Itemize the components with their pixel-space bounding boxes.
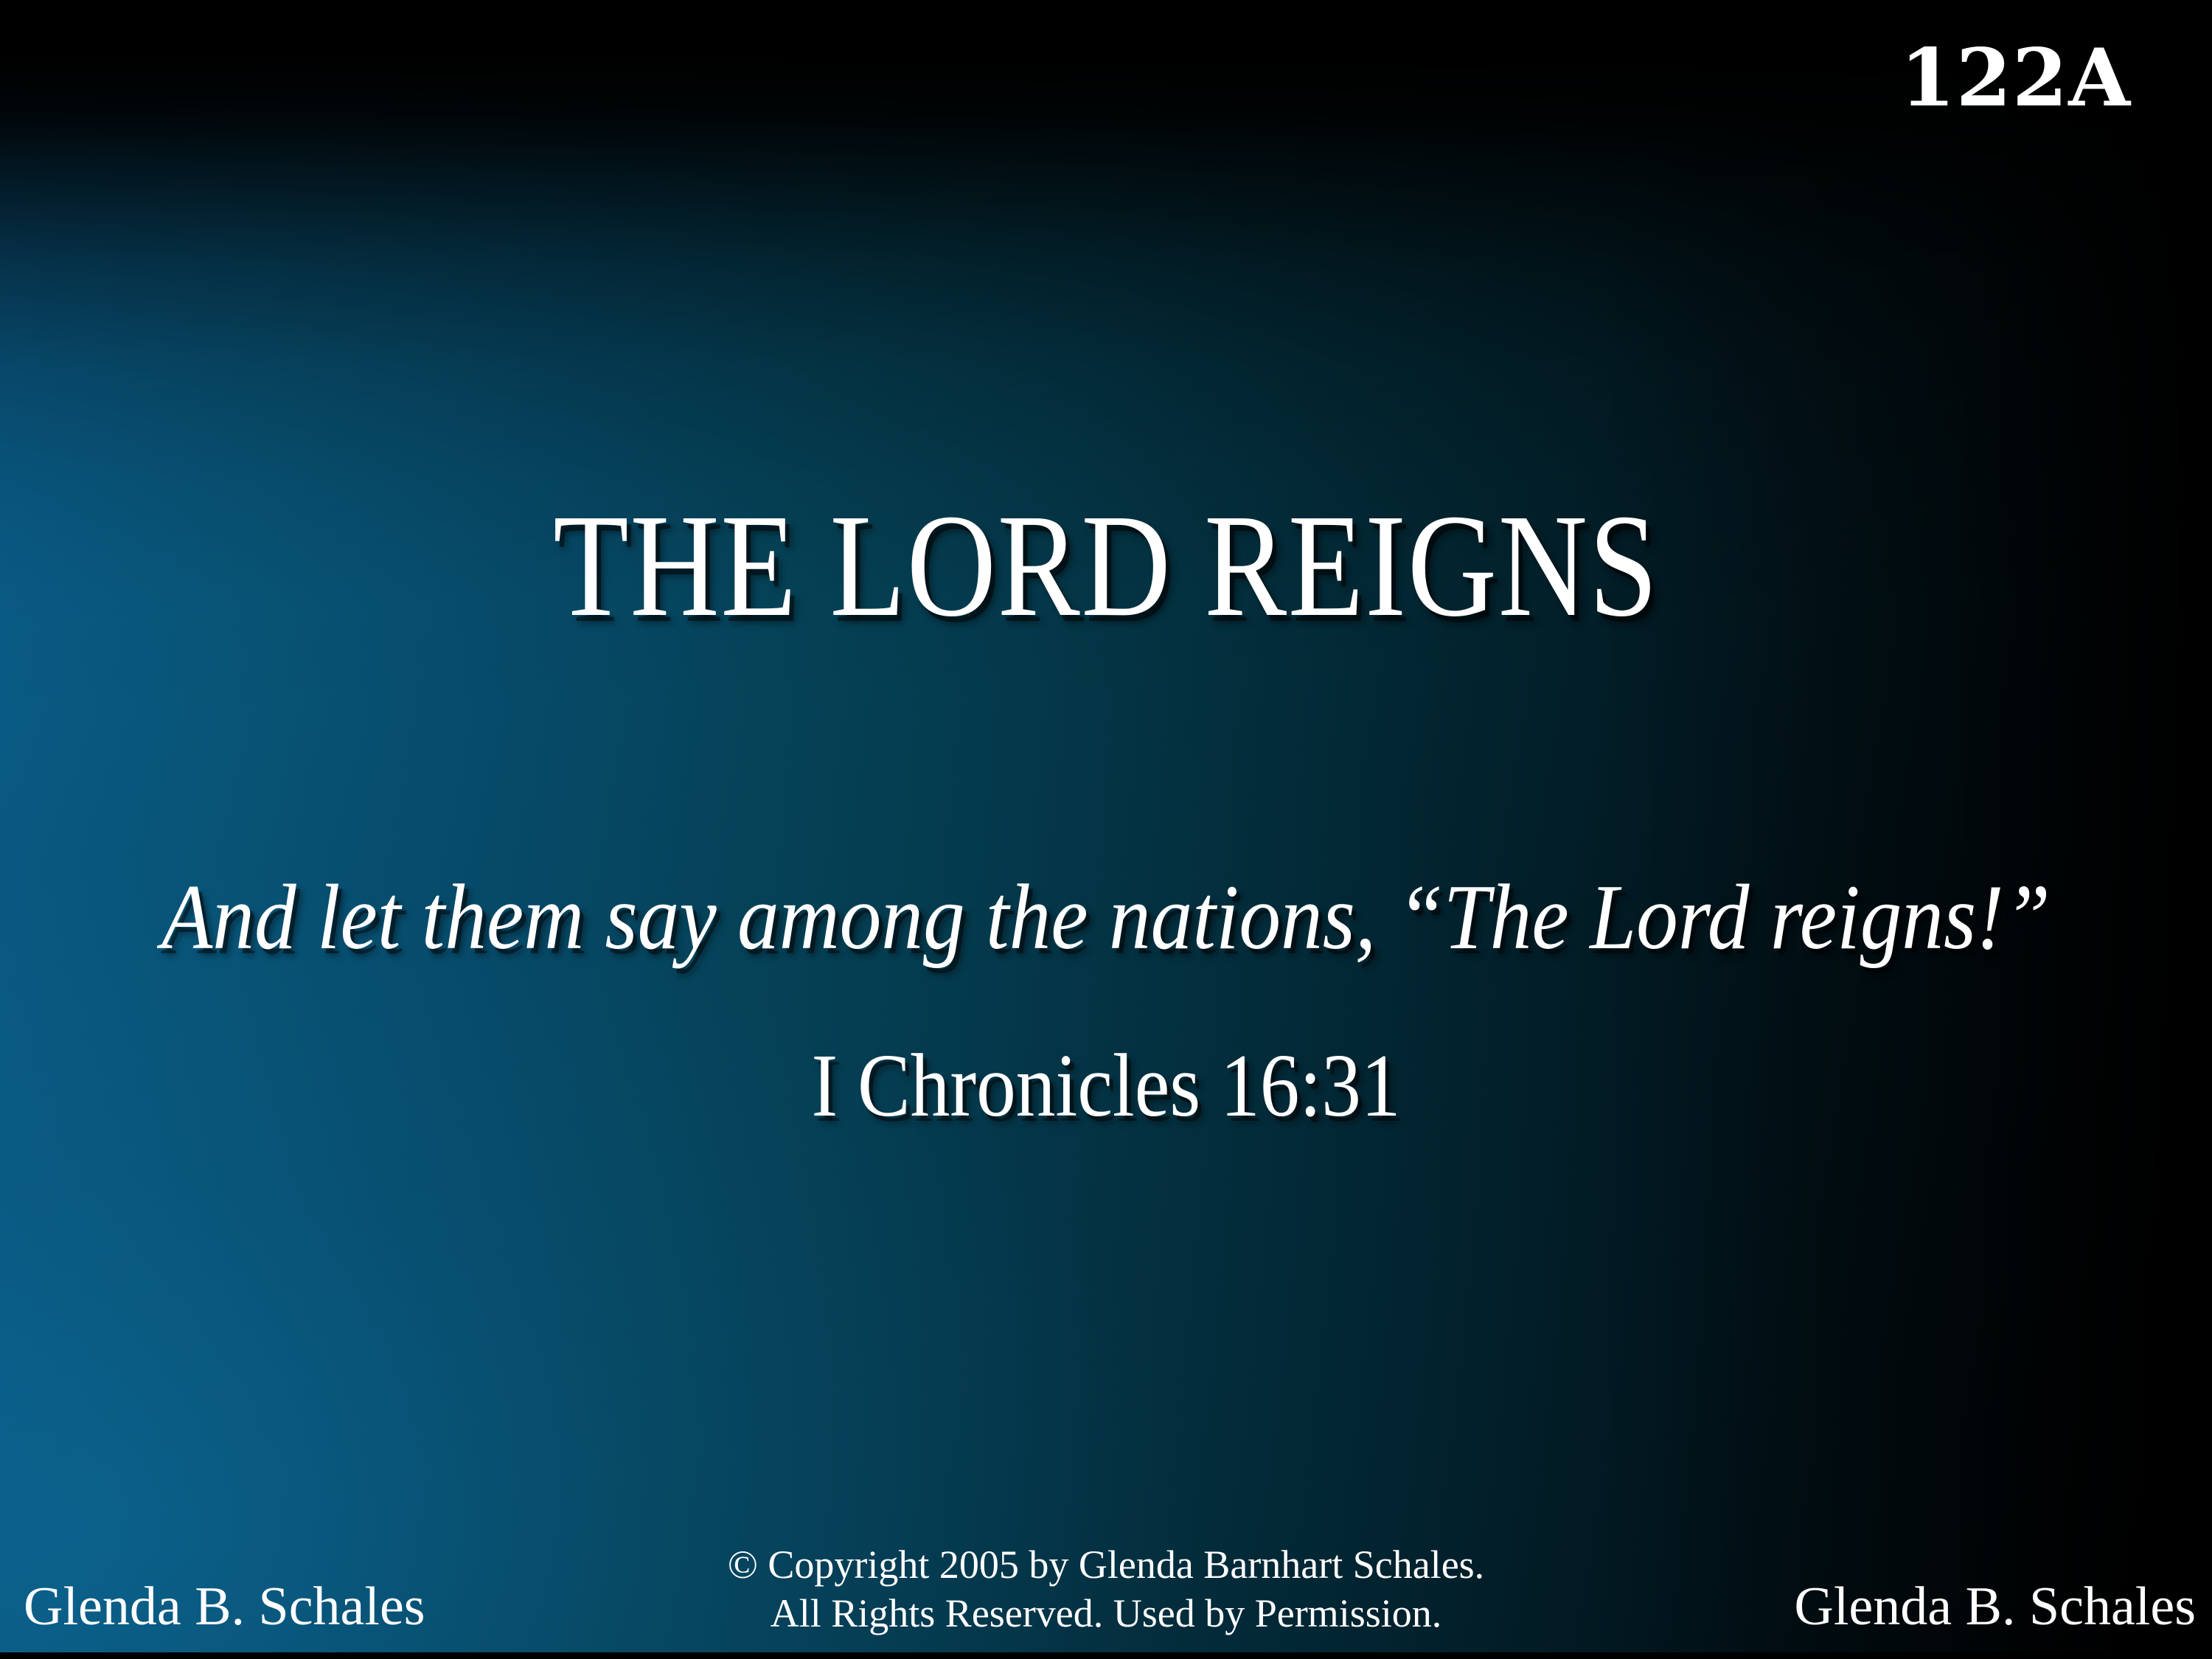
slide-bottom-bar: [0, 1652, 2212, 1659]
slide-background-gradient: [0, 0, 2212, 1659]
presentation-slide: 122A THE LORD REIGNS And let them say am…: [0, 0, 2212, 1659]
slide-background-glow: [0, 0, 2212, 1659]
slide-background-top-fade: [0, 0, 2212, 1659]
author-credit-right: Glenda B. Schales: [1794, 1579, 2196, 1634]
slide-title: THE LORD REIGNS: [177, 493, 2035, 640]
slide-number: 122A: [1900, 38, 2131, 118]
scripture-reference: I Chronicles 16:31: [133, 1041, 2079, 1131]
slide-background-right-fade: [0, 0, 2212, 1659]
author-credit-left: Glenda B. Schales: [24, 1579, 425, 1634]
scripture-verse-text: And let them say among the nations, “The…: [111, 872, 2101, 964]
